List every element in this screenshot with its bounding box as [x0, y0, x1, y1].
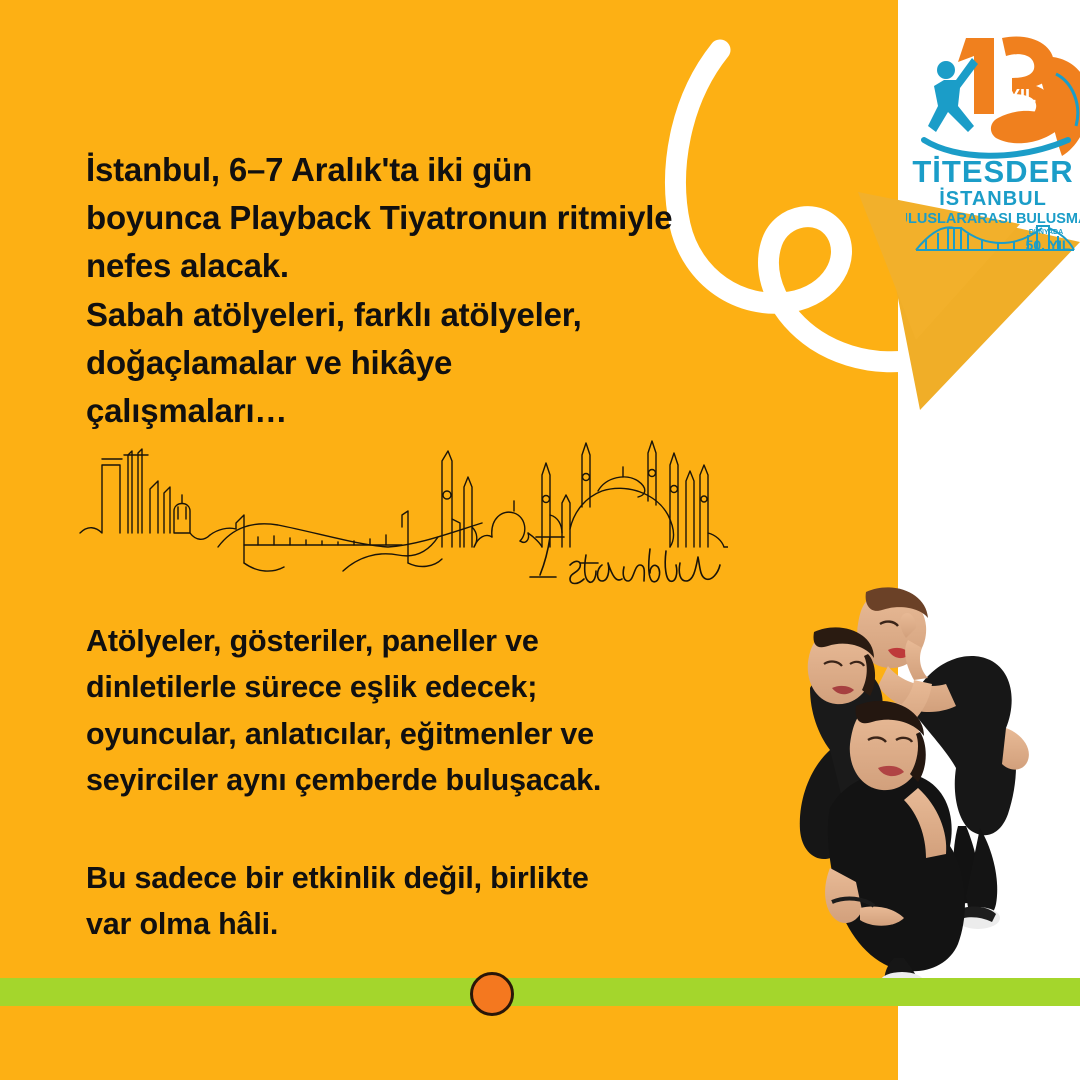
- anniversary-unit: YIL: [1008, 86, 1036, 106]
- anniversary-number: [958, 36, 1054, 136]
- headline-line: oyuncular, anlatıcılar, eğitmenler ve: [86, 711, 706, 757]
- logo-subtitle: ULUSLARARASI BULUSMA: [906, 211, 1080, 227]
- headline-line: boyunca Playback Tiyatronun ritmiyle: [86, 194, 726, 242]
- headline-line: Bu sadece bir etkinlik değil, birlikte: [86, 855, 706, 901]
- titesder-logo: YIL TİTESDER İSTANBUL ULUSLARARASI BULUS…: [906, 22, 1080, 272]
- bottom-yellow-strip: [0, 1006, 898, 1080]
- headline-line: nefes alacak.: [86, 242, 726, 290]
- headline-block-two: Atölyeler, gösteriler, paneller ve dinle…: [86, 618, 706, 803]
- skyline-caption: [530, 537, 720, 584]
- bridge-caption-small: DÜNYADA: [1029, 227, 1063, 236]
- running-figure-icon: [928, 58, 978, 132]
- logo-city: İSTANBUL: [939, 187, 1047, 210]
- headline-line: Sabah atölyeleri, farklı atölyeler,: [86, 291, 726, 339]
- logo-organization: TİTESDER: [912, 154, 1073, 189]
- headline-line: Atölyeler, gösteriler, paneller ve: [86, 618, 706, 664]
- orange-circle-dot: [470, 972, 514, 1016]
- three-performers-photo: [770, 578, 1080, 988]
- headline-block-three: Bu sadece bir etkinlik değil, birlikte v…: [86, 855, 706, 948]
- headline-line: seyirciler aynı çemberde buluşacak.: [86, 757, 706, 803]
- headline-line: İstanbul, 6–7 Aralık'ta iki gün: [86, 146, 726, 194]
- poster-root: YIL TİTESDER İSTANBUL ULUSLARARASI BULUS…: [0, 0, 1080, 1080]
- headline-line: var olma hâli.: [86, 901, 706, 947]
- headline-line: dinletilerle sürece eşlik edecek;: [86, 664, 706, 710]
- headline-line: doğaçlamalar ve hikâye: [86, 339, 726, 387]
- bridge-caption-large: 50. YIL: [1026, 237, 1071, 253]
- istanbul-skyline-line-art: [78, 415, 728, 600]
- bottom-green-bar: [0, 978, 1080, 1006]
- headline-block-one: İstanbul, 6–7 Aralık'ta iki gün boyunca …: [86, 146, 726, 435]
